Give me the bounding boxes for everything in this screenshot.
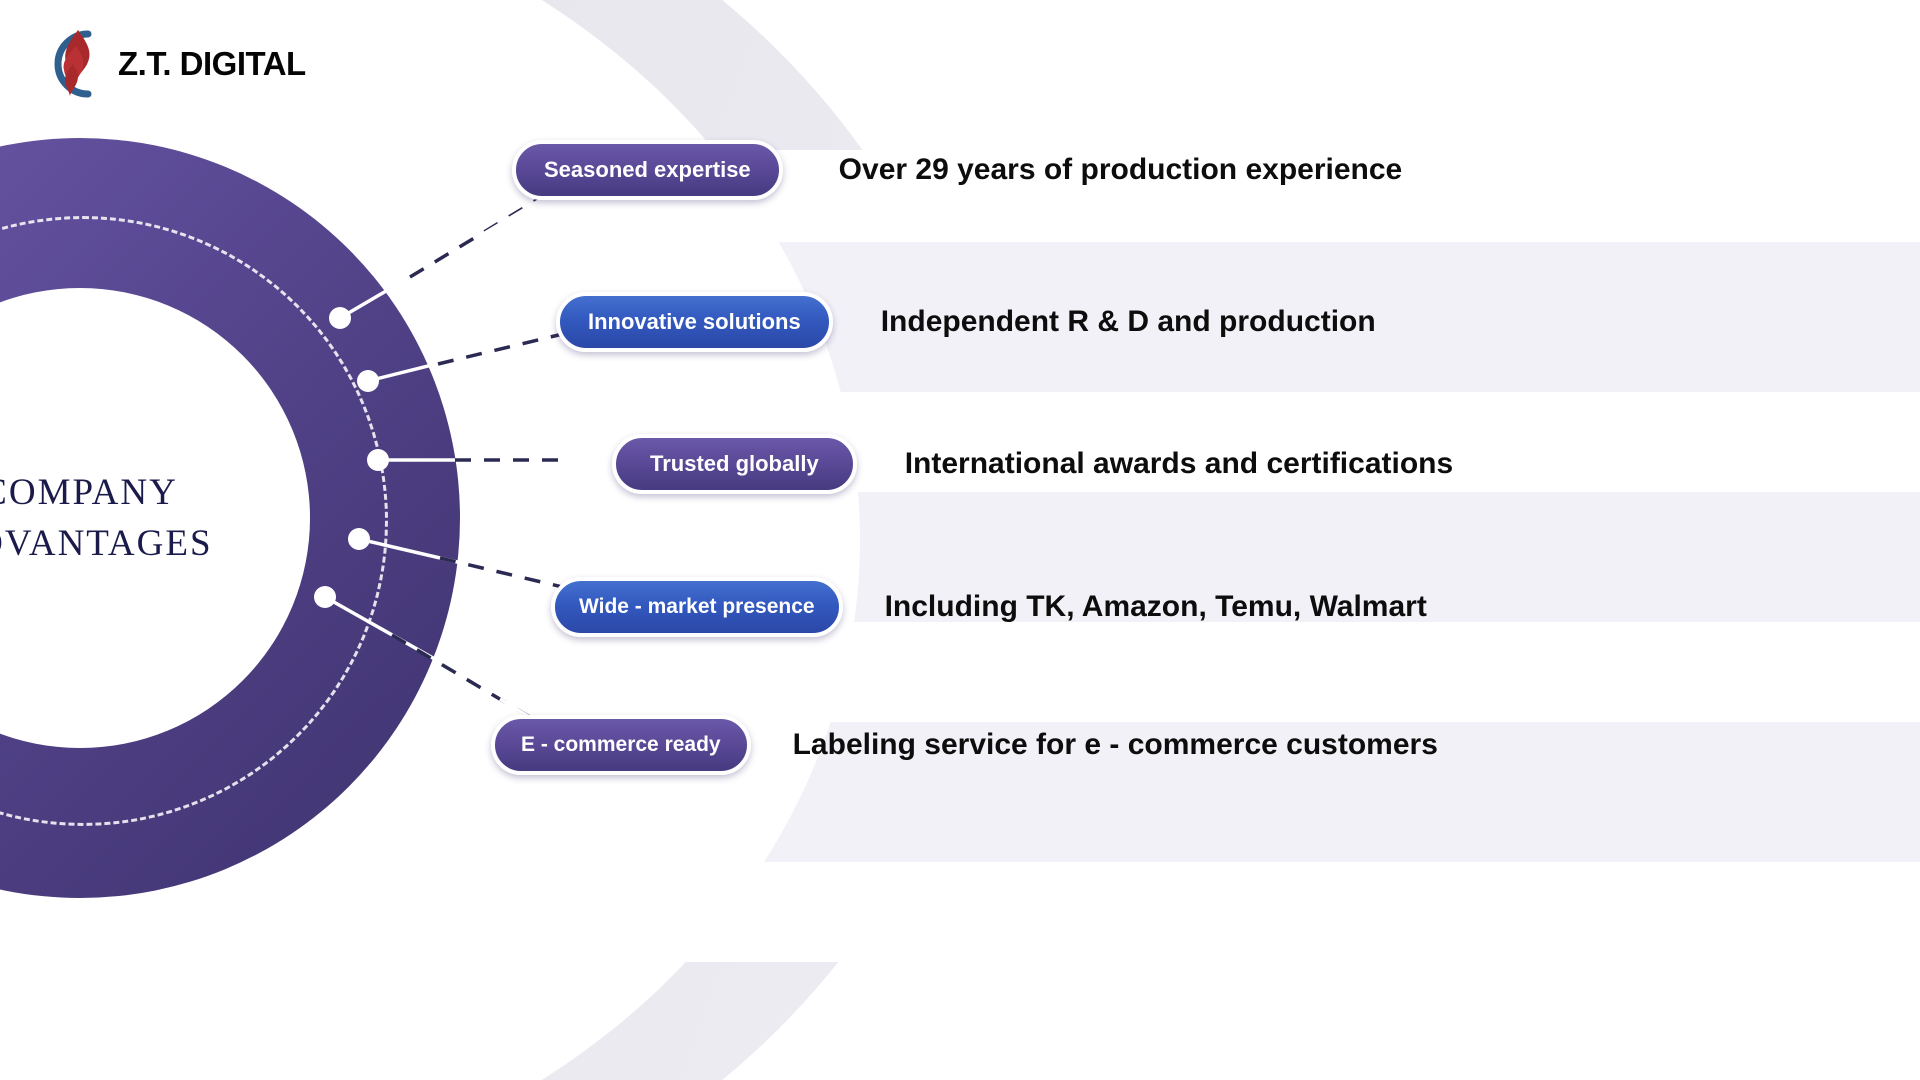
advantage-row-4: Wide - market presence Including TK, Ama… xyxy=(551,577,1427,637)
advantage-description-1: Over 29 years of production experience xyxy=(839,153,1403,187)
advantage-label-3: Trusted globally xyxy=(650,451,819,477)
brand-logo[interactable]: Z.T. DIGITAL xyxy=(38,24,306,104)
advantage-description-3: International awards and certifications xyxy=(905,447,1453,481)
advantage-label-5: E - commerce ready xyxy=(521,733,721,757)
advantage-description-5: Labeling service for e - commerce custom… xyxy=(793,728,1438,762)
advantage-pill-2[interactable]: Innovative solutions xyxy=(556,292,833,352)
advantage-pill-5[interactable]: E - commerce ready xyxy=(491,715,751,775)
advantage-pill-4[interactable]: Wide - market presence xyxy=(551,577,843,637)
advantage-pill-1[interactable]: Seasoned expertise xyxy=(512,140,783,200)
advantage-label-1: Seasoned expertise xyxy=(544,157,751,183)
flame-circle-logo-icon xyxy=(38,24,116,104)
advantage-description-4: Including TK, Amazon, Temu, Walmart xyxy=(885,590,1427,624)
advantage-label-2: Innovative solutions xyxy=(588,309,801,335)
advantage-row-2: Innovative solutions Independent R & D a… xyxy=(556,292,1376,352)
slide-canvas: COMPANY ADVANTAGES xyxy=(0,0,1920,1080)
advantage-label-4: Wide - market presence xyxy=(579,595,815,619)
advantage-row-5: E - commerce ready Labeling service for … xyxy=(491,715,1438,775)
advantage-row-3: Trusted globally International awards an… xyxy=(612,434,1453,494)
advantage-pill-3[interactable]: Trusted globally xyxy=(612,434,857,494)
advantage-row-1: Seasoned expertise Over 29 years of prod… xyxy=(512,140,1402,200)
advantage-description-2: Independent R & D and production xyxy=(881,305,1376,339)
brand-name: Z.T. DIGITAL xyxy=(118,45,306,83)
